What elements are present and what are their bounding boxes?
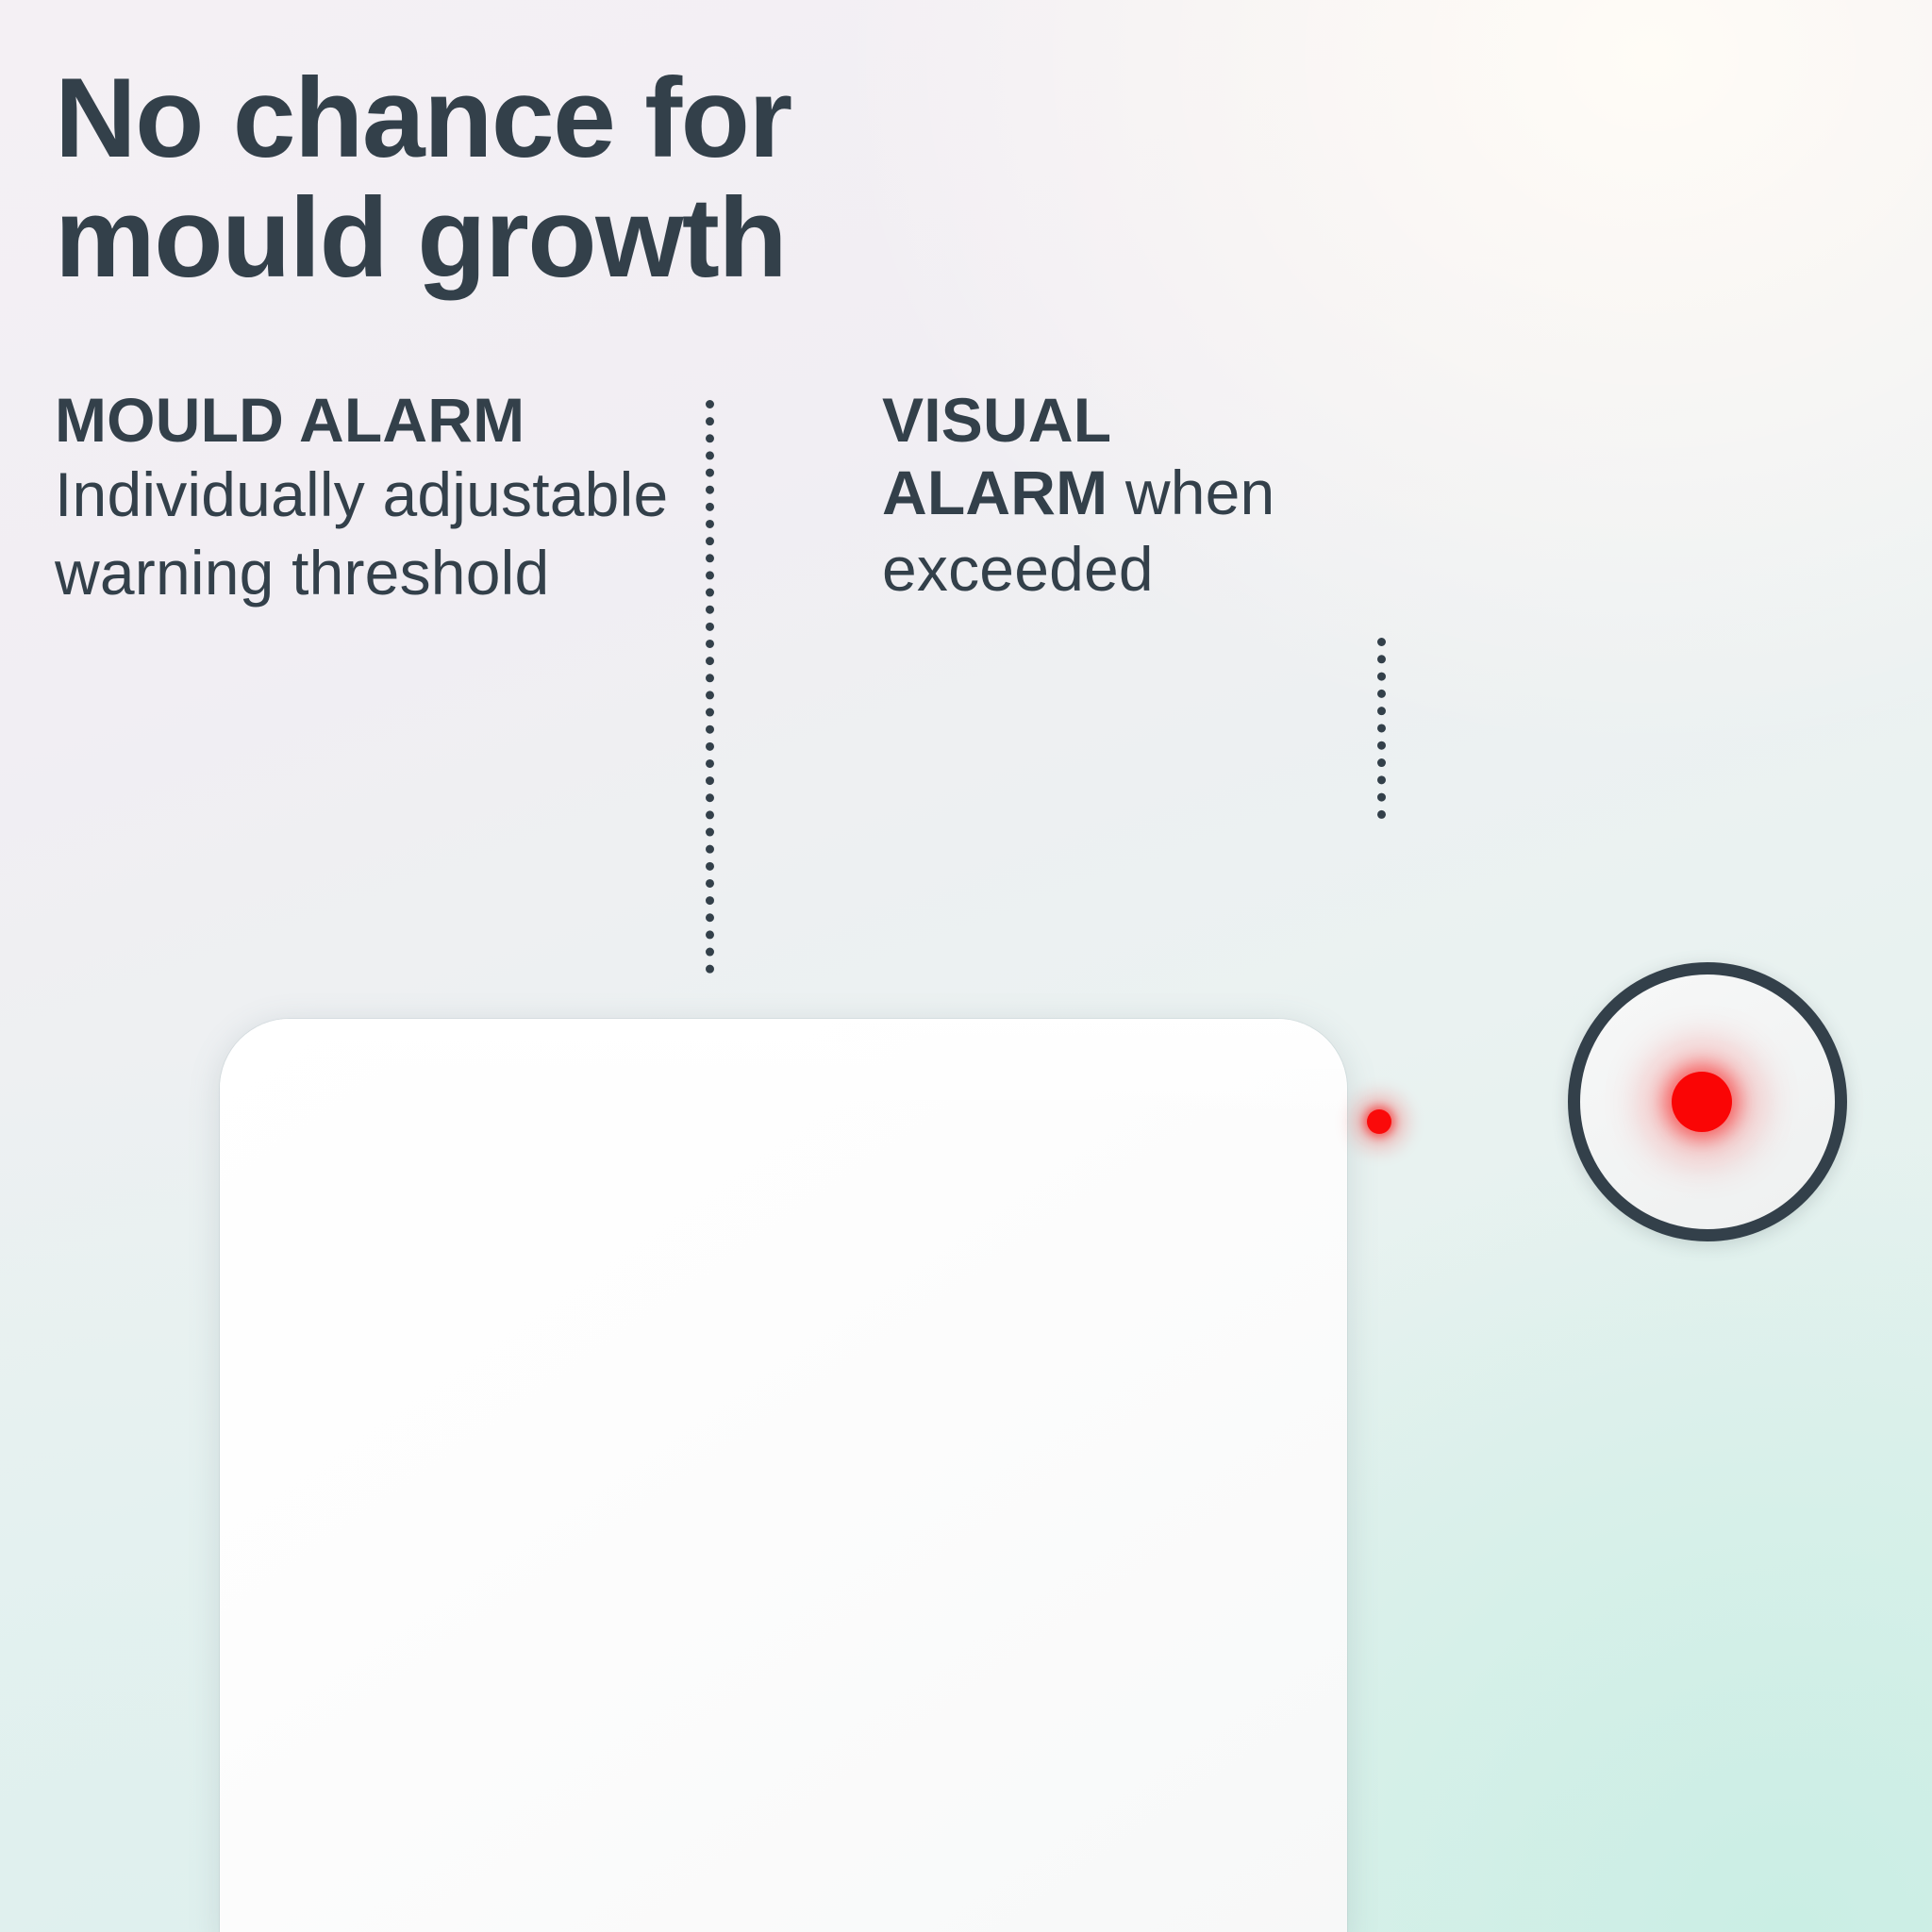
callout-visual-alarm-line1: VISUAL — [882, 385, 1410, 456]
hygrometer-device: FLU MOULD HEAT — [220, 1019, 1347, 1932]
callout-visual-alarm-line2: ALARM when — [882, 456, 1410, 531]
leader-line-visual-alarm — [1377, 638, 1386, 819]
callout-mould-alarm-heading: MOULD ALARM — [55, 385, 715, 456]
infographic-canvas: No chance for mould growth MOULD ALARM I… — [0, 0, 1932, 1932]
callout-visual-alarm-line3: exceeded — [882, 530, 1410, 608]
callout-visual-alarm-line2-rest: when — [1108, 458, 1274, 527]
callout-visual-alarm: VISUAL ALARM when exceeded — [882, 385, 1410, 609]
callout-mould-alarm-body: Individually adjustable warning threshol… — [55, 456, 715, 612]
leader-line-mould-alarm — [706, 400, 714, 974]
enlarged-red-led-icon — [1672, 1072, 1732, 1132]
page-title: No chance for mould growth — [55, 58, 1149, 298]
callout-mould-alarm: MOULD ALARM Individually adjustable warn… — [55, 385, 715, 612]
led-magnifier — [1568, 962, 1847, 1241]
mould-alarm-led — [1367, 1109, 1391, 1134]
callout-visual-alarm-line2-bold: ALARM — [882, 458, 1108, 527]
